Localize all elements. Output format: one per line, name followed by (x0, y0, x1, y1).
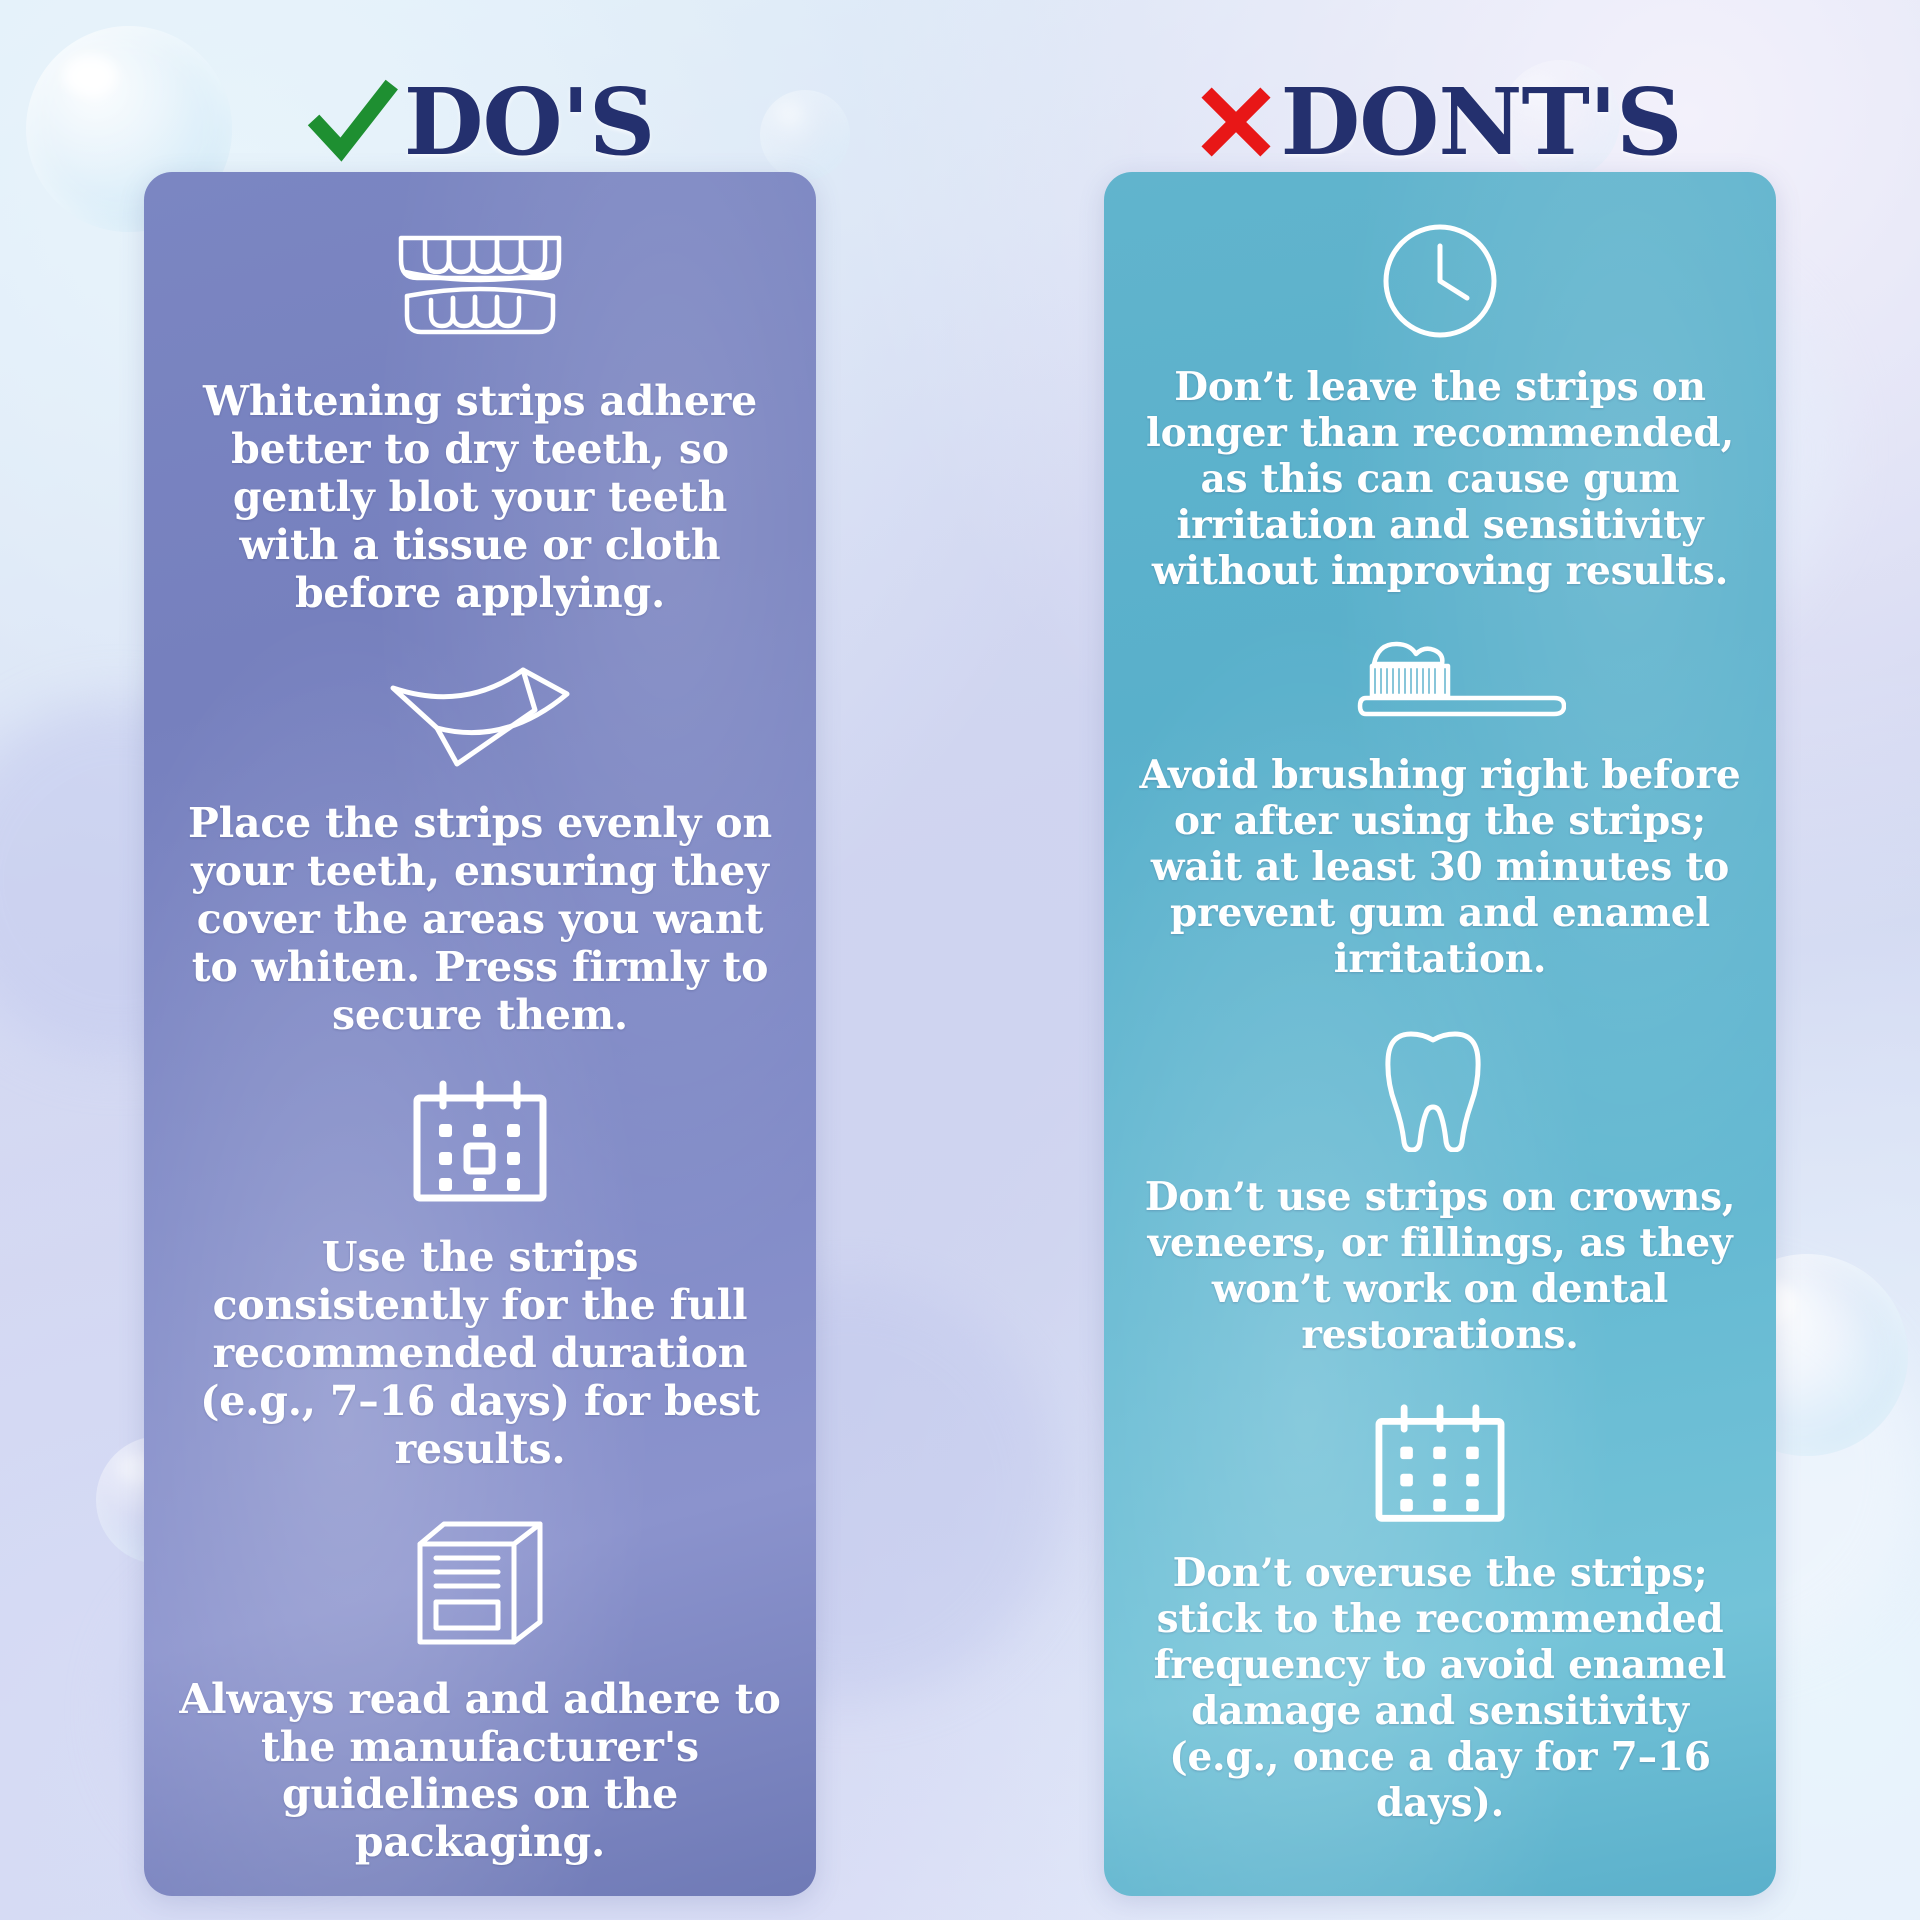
clock-icon (1379, 220, 1501, 342)
whitening-strip-icon (385, 664, 575, 774)
headings-row: DO'S DONT'S (0, 62, 1920, 182)
dos-item-4-text: Always read and adhere to the manufactur… (178, 1676, 782, 1868)
heading-dos-label: DO'S (404, 76, 655, 168)
calendar-icon (405, 1078, 555, 1208)
donts-item-1-text: Don’t leave the strips on longer than re… (1138, 364, 1742, 594)
dos-item-2-text: Place the strips evenly on your teeth, e… (178, 800, 782, 1040)
donts-item-4-text: Don’t overuse the strips; stick to the r… (1138, 1550, 1742, 1826)
dos-item-1: Whitening strips adhere better to dry te… (178, 224, 782, 618)
donts-item-2-text: Avoid brushing right before or after usi… (1138, 752, 1742, 982)
donts-item-3: Don’t use strips on crowns, veneers, or … (1138, 1026, 1742, 1358)
donts-item-4: Don’t overuse the strips; stick to the r… (1138, 1402, 1742, 1826)
dos-item-1-text: Whitening strips adhere better to dry te… (178, 378, 782, 618)
green-check-icon (306, 76, 398, 168)
infographic-canvas: DO'S DONT'S (0, 0, 1920, 1920)
donts-item-1: Don’t leave the strips on longer than re… (1138, 220, 1742, 594)
heading-donts: DONT'S (960, 62, 1920, 182)
toothbrush-icon (1314, 638, 1566, 730)
dos-item-3: Use the strips consistently for the full… (178, 1078, 782, 1474)
panel-dos: Whitening strips adhere better to dry te… (144, 172, 816, 1896)
red-cross-icon (1198, 84, 1274, 160)
panels-row: Whitening strips adhere better to dry te… (0, 172, 1920, 1896)
calendar-icon (1365, 1402, 1515, 1528)
dos-item-4: Always read and adhere to the manufactur… (178, 1516, 782, 1868)
dos-item-2: Place the strips evenly on your teeth, e… (178, 664, 782, 1040)
panel-donts: Don’t leave the strips on longer than re… (1104, 172, 1776, 1896)
heading-dos: DO'S (0, 62, 960, 182)
tooth-icon (1381, 1026, 1499, 1152)
package-box-icon (410, 1516, 550, 1650)
heading-donts-label: DONT'S (1280, 76, 1681, 168)
teeth-icon (391, 224, 569, 352)
dos-item-3-text: Use the strips consistently for the full… (178, 1234, 782, 1474)
donts-item-2: Avoid brushing right before or after usi… (1138, 638, 1742, 982)
donts-item-3-text: Don’t use strips on crowns, veneers, or … (1138, 1174, 1742, 1358)
